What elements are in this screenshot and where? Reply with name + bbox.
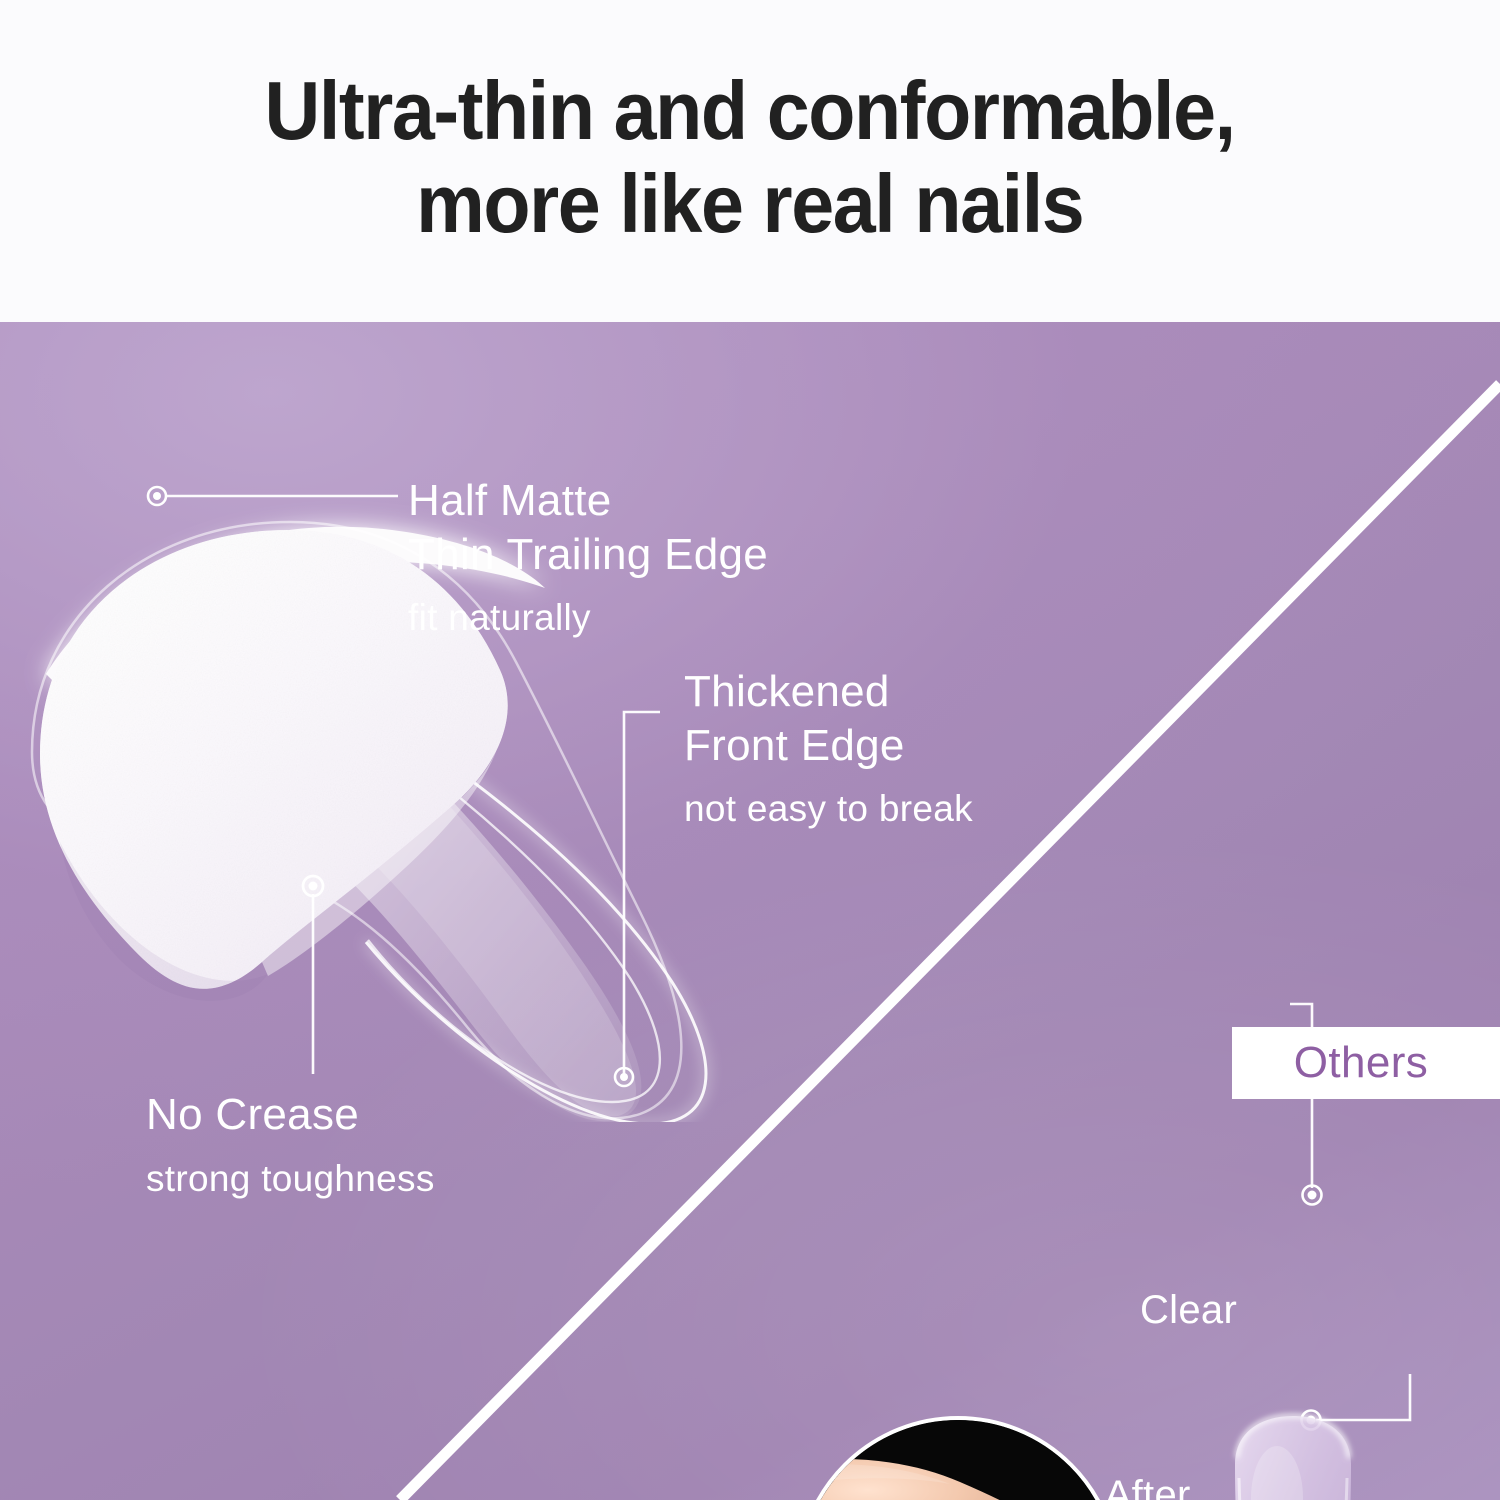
leader-dot-icon [148, 487, 166, 505]
leader-dot-icon [1302, 1411, 1321, 1430]
pinching-fingers-photo [796, 1416, 1120, 1500]
pinching-fingers-illustration [800, 1420, 1116, 1500]
callout-thickened-front-edge-subtitle: not easy to break [684, 788, 973, 830]
header-banner: Ultra-thin and conformable, more like re… [0, 0, 1500, 322]
abs-nail-highlight-upper [1251, 1446, 1303, 1500]
leader-dot-icon [615, 1068, 633, 1086]
comparison-stage: Half Matte Thin Trailing Edge fit natura… [0, 322, 1500, 1500]
callout-half-matte-title: Half Matte Thin Trailing Edge [408, 474, 768, 581]
abs-nail-body [1235, 1416, 1351, 1500]
nail-transparent-tail [300, 702, 641, 1121]
leader-dot-icon [1303, 1186, 1322, 1205]
callout-half-matte: Half Matte Thin Trailing Edge fit natura… [408, 474, 768, 639]
label-clear: Clear [1140, 1287, 1237, 1334]
abs-nail-illustration [1213, 1408, 1373, 1500]
page-title-line-1: Ultra-thin and conformable, [265, 65, 1235, 158]
label-after-bend: After Bend [1096, 1472, 1191, 1500]
nail-trailing-edge-bevel [262, 734, 502, 976]
abs-nail-top-rim [1237, 1416, 1349, 1458]
callout-no-crease: No Crease strong toughness [146, 1088, 435, 1200]
leader-dot-icon [303, 876, 323, 896]
callout-no-crease-title: No Crease [146, 1088, 435, 1142]
competitor-badge-others: Others [1232, 1027, 1500, 1099]
nail-loop-outline-outer [352, 700, 706, 1122]
pinching-fingers-photo-inner [800, 1420, 1116, 1500]
nail-tail-inner-sheen [338, 720, 636, 1117]
abs-nail-left-rim [1239, 1478, 1293, 1500]
abs-nail-right-rim [1293, 1478, 1347, 1500]
callout-half-matte-subtitle: fit naturally [408, 597, 768, 639]
competitor-badge-label: Others [1294, 1038, 1428, 1088]
page-title-line-2: more like real nails [416, 158, 1083, 251]
nail-loop-outline-inner [346, 714, 660, 1102]
leader-line-abs [1316, 1374, 1410, 1420]
callout-no-crease-subtitle: strong toughness [146, 1158, 435, 1200]
nail-head-shadow [60, 842, 268, 1001]
callout-thickened-front-edge-title: Thickened Front Edge [684, 665, 973, 772]
leader-line-thickened-front-edge [624, 712, 660, 1077]
callout-thickened-front-edge: Thickened Front Edge not easy to break [684, 665, 973, 830]
infographic-page: Ultra-thin and conformable, more like re… [0, 0, 1500, 1500]
